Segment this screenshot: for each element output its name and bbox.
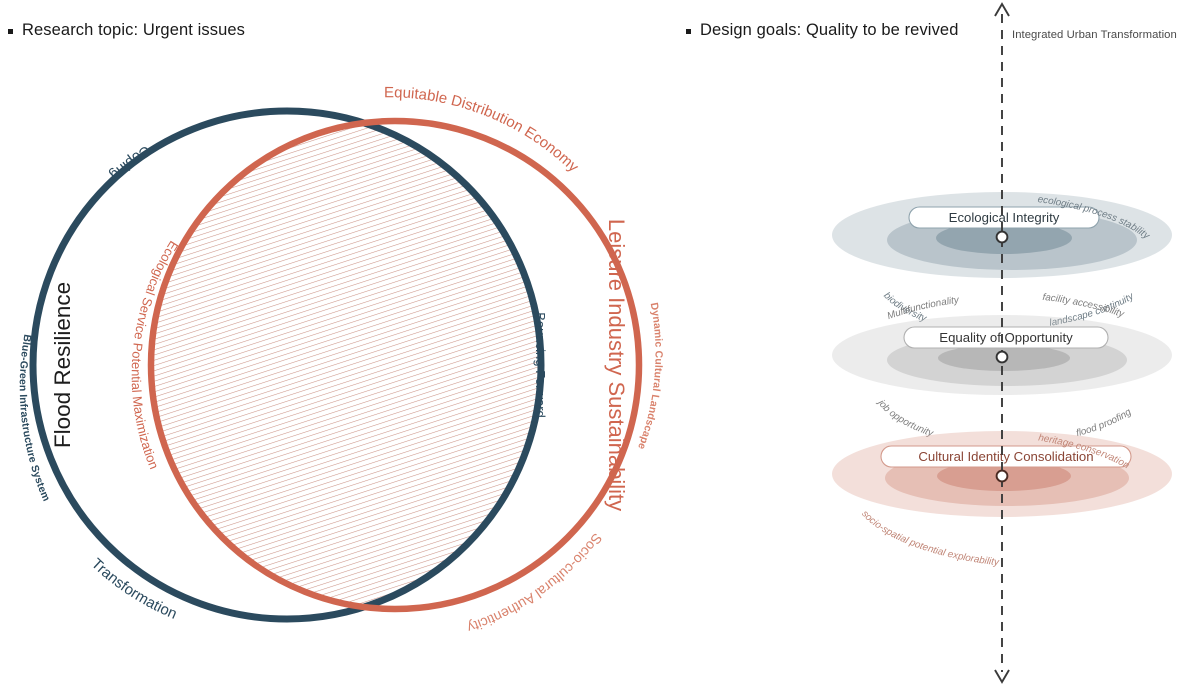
venn-left-top-label: Coping (106, 142, 153, 184)
goal-satellite-label: flood proofing (1075, 406, 1134, 439)
venn-bouncing-forward-label: Bouncing Forward (533, 312, 548, 418)
design-goals-diagram: Ecological Integrity ecological process … (660, 0, 1200, 687)
axis-node-cultural-identity-consolidation (997, 471, 1008, 482)
goal-title-equality-of-opportunity: Equality of Opportunity (939, 330, 1073, 345)
axis-node-equality-of-opportunity (997, 352, 1008, 363)
venn-right-main-label: Leisure Industry Sustainability (604, 219, 629, 511)
axis-node-ecological-integrity (997, 232, 1008, 243)
diagram-canvas: Research topic: Urgent issues Design goa… (0, 0, 1200, 687)
venn-right-bottom-label: Socio-cultural Authenticity (465, 530, 605, 636)
goal-satellite-label: job opportunity (874, 396, 935, 439)
venn-diagram: Coping Blue-Green Infrastructure System … (0, 0, 680, 687)
goal-title-ecological-integrity: Ecological Integrity (949, 210, 1060, 225)
goal-title-cultural-identity-consolidation: Cultural Identity Consolidation (918, 449, 1093, 464)
venn-left-main-label: Flood Resilience (50, 282, 75, 448)
goal-satellite-label: socio-spatial potential explorability (859, 509, 1000, 569)
